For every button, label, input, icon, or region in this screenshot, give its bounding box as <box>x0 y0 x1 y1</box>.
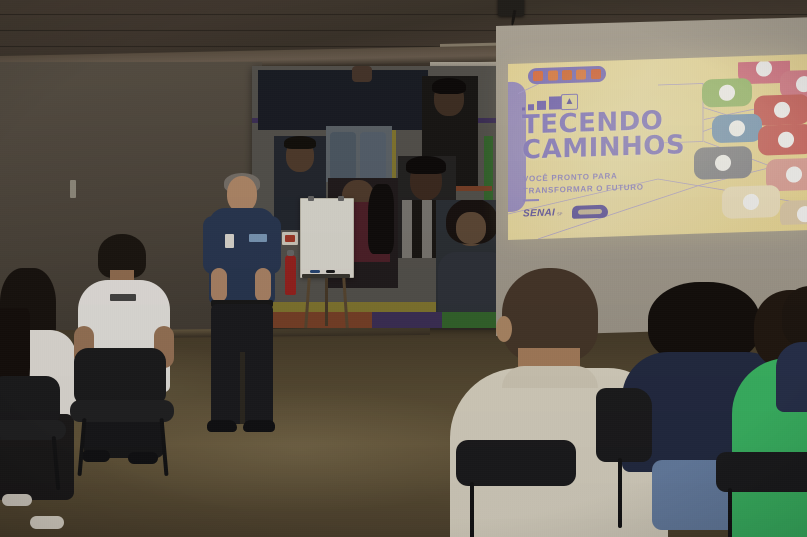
ceiling-projector <box>498 0 524 16</box>
icon-tile-1 <box>533 71 543 81</box>
presenter <box>203 176 283 436</box>
chair[interactable] <box>70 348 180 478</box>
shirt-collar <box>502 366 598 388</box>
shirt-logo <box>249 234 267 242</box>
collage-photo <box>326 126 392 182</box>
white-flipchart-easel <box>300 198 352 328</box>
slide-subtitle-line2: TRANSFORMAR O FUTURO <box>523 181 644 197</box>
spool <box>694 146 752 180</box>
icon-tile-5 <box>591 69 601 79</box>
spool <box>702 78 752 108</box>
tshirt-logo <box>110 294 136 301</box>
slide-divider <box>523 199 539 202</box>
thread-spools-photo <box>688 60 807 228</box>
attendee-far-right <box>782 286 807 406</box>
slide-subtitle: VOCÊ PRONTO PARA TRANSFORMAR O FUTURO <box>523 169 644 197</box>
slide-title-line2: CAMINHOS <box>522 134 685 165</box>
id-badge <box>225 234 234 248</box>
senai-logo: SENAISP <box>523 207 562 219</box>
chair[interactable] <box>456 440 586 537</box>
wall-light-switch[interactable] <box>70 180 76 198</box>
spool <box>758 124 807 156</box>
partner-logo <box>572 205 608 219</box>
presentation-photograph: ▲ TECENDO CAMINHOS VOCÊ PRONTO PARA TRAN… <box>0 0 807 537</box>
marker-pen <box>310 270 320 273</box>
attendee-shirt <box>776 342 807 412</box>
icon-tile-4 <box>576 69 586 79</box>
senai-logo-sub: SP <box>557 211 562 216</box>
spool <box>722 185 780 219</box>
square-m <box>537 101 546 110</box>
chair[interactable] <box>0 376 86 496</box>
presentation-slide: ▲ TECENDO CAMINHOS VOCÊ PRONTO PARA TRAN… <box>508 54 807 240</box>
icon-tile-3 <box>562 70 572 80</box>
marker-pen <box>326 270 335 273</box>
collage-photo <box>258 70 428 130</box>
slide-title: TECENDO CAMINHOS <box>522 108 685 164</box>
chair[interactable] <box>716 452 807 537</box>
attendee-hair <box>782 286 807 348</box>
attendee-ear <box>496 316 512 342</box>
icon-tile-2 <box>548 70 558 80</box>
slide-icon-row <box>528 66 606 85</box>
flipchart-sheet <box>300 198 354 278</box>
shoe <box>207 420 237 432</box>
chair[interactable] <box>596 388 716 528</box>
spool <box>712 114 762 144</box>
spool <box>754 94 807 126</box>
collage-photo <box>352 66 372 82</box>
shoe <box>243 420 275 432</box>
presenter-head <box>227 176 257 212</box>
fire-extinguisher <box>285 255 296 295</box>
sandal <box>30 516 64 529</box>
fire-equipment-sign <box>282 232 298 245</box>
spool <box>780 199 807 228</box>
slide-logo-group: SENAISP <box>523 205 608 221</box>
